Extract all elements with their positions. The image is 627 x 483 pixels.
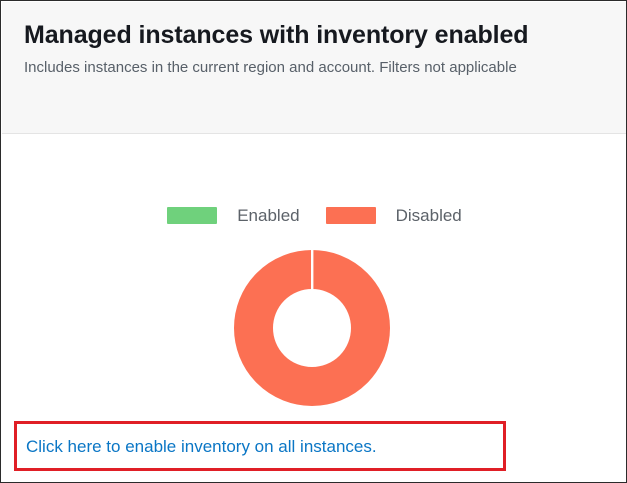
- chart-legend: Enabled Disabled: [2, 206, 627, 225]
- donut-chart[interactable]: [234, 250, 390, 406]
- legend-label-disabled: Disabled: [396, 206, 462, 225]
- card-subtitle: Includes instances in the current region…: [24, 58, 544, 78]
- legend-swatch-enabled-icon: [167, 207, 217, 224]
- enable-inventory-link[interactable]: Click here to enable inventory on all in…: [26, 435, 377, 459]
- cta-row: Click here to enable inventory on all in…: [2, 421, 627, 483]
- legend-item-enabled[interactable]: Enabled: [167, 206, 299, 225]
- donut-slice-gap: [311, 250, 313, 290]
- legend-swatch-disabled-icon: [326, 207, 376, 224]
- card-header: Managed instances with inventory enabled…: [2, 2, 627, 134]
- legend-label-enabled: Enabled: [237, 206, 299, 225]
- card-body: Enabled Disabled Click here to enable in…: [2, 134, 627, 483]
- legend-item-disabled[interactable]: Disabled: [326, 206, 462, 225]
- page-title: Managed instances with inventory enabled: [24, 20, 605, 50]
- managed-instances-inventory-card: Managed instances with inventory enabled…: [0, 0, 627, 483]
- donut-chart-svg: [234, 250, 390, 406]
